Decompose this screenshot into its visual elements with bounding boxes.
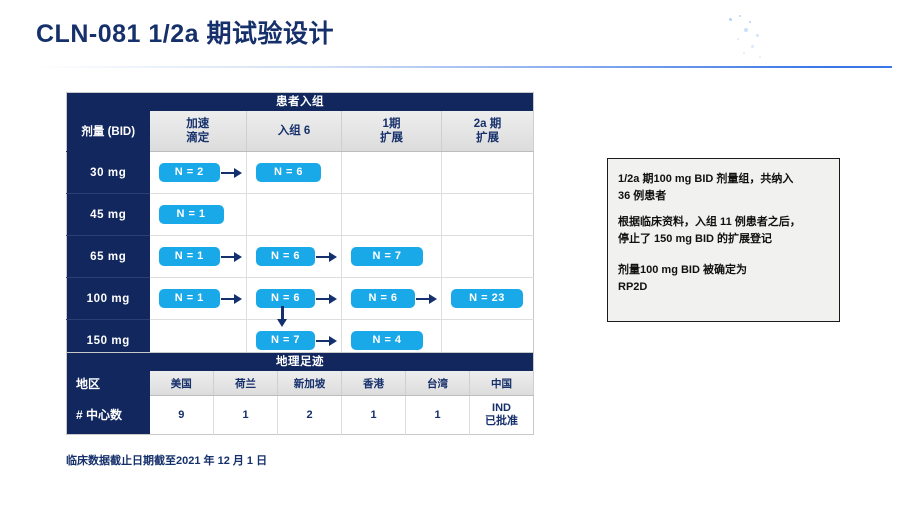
region-row-header: 地区 <box>67 371 150 396</box>
arrow-right-icon <box>316 335 340 347</box>
enrollment-pill: N = 7 <box>351 247 423 266</box>
site-count-taiwan: 1 <box>406 396 470 435</box>
cell-65mg-phase2a <box>442 236 534 278</box>
enrollment-pill: N = 1 <box>159 205 224 224</box>
region-taiwan: 台湾 <box>406 371 470 396</box>
page-title: CLN-081 1/2a 期试验设计 <box>36 14 334 50</box>
cell-65mg-phase1: N = 7 <box>342 236 442 278</box>
summary-callout-box: 1/2a 期100 mg BID 剂量组，共纳入 36 例患者 根据临床资料，入… <box>607 158 840 322</box>
cell-65mg-accelerated: N = 1 <box>150 236 247 278</box>
enrollment-pill: N = 6 <box>351 289 415 308</box>
dose-label-45mg: 45 mg <box>67 194 150 236</box>
callout-paragraph-1: 1/2a 期100 mg BID 剂量组，共纳入 36 例患者 <box>618 171 829 205</box>
callout-paragraph-3: 剂量100 mg BID 被确定为 RP2D <box>618 262 829 296</box>
geography-banner-row: 地理足迹 <box>67 353 534 372</box>
column-header-line1: 2a 期 <box>442 117 533 131</box>
table-row: 65 mg N = 1 N = 6 N = 7 <box>67 236 534 278</box>
column-header-phase1-expansion: 1期 扩展 <box>342 111 442 152</box>
enrollment-banner-row: 患者入组 <box>67 93 534 112</box>
table-row: 30 mg N = 2 N = 6 <box>67 152 534 194</box>
column-header-phase2a-expansion: 2a 期 扩展 <box>442 111 534 152</box>
region-china: 中国 <box>470 371 534 396</box>
site-count-singapore: 2 <box>278 396 342 435</box>
site-count-china-line1: IND <box>470 402 533 415</box>
cell-100mg-enroll6: N = 6 <box>247 278 342 320</box>
site-count-row-header: # 中心数 <box>67 396 150 435</box>
cell-45mg-accelerated: N = 1 <box>150 194 247 236</box>
enrollment-pill: N = 4 <box>351 331 423 350</box>
column-header-line1: 1期 <box>342 117 441 131</box>
enrollment-banner: 患者入组 <box>67 93 534 112</box>
geographic-footprint-table: 地理足迹 地区 美国 荷兰 新加坡 香港 台湾 中国 # 中心数 9 1 2 1… <box>66 352 534 435</box>
callout-paragraph-2: 根据临床资料，入组 11 例患者之后， 停止了 150 mg BID 的扩展登记 <box>618 214 829 248</box>
patient-enrollment-table: 患者入组 剂量 (BID) 加速 滴定 入组 6 1期 扩展 2a 期 扩展 <box>66 92 534 362</box>
column-header-line1: 加速 <box>150 117 247 131</box>
arrow-right-icon <box>221 251 245 263</box>
geography-header-row: 地区 美国 荷兰 新加坡 香港 台湾 中国 <box>67 371 534 396</box>
arrow-down-icon <box>276 306 288 330</box>
dose-column-header-text: 剂量 (BID) <box>81 126 135 138</box>
table-row: 100 mg N = 1 N = 6 N = 6 <box>67 278 534 320</box>
callout-line-4: 停止了 150 mg BID 的扩展登记 <box>618 233 772 245</box>
region-netherlands: 荷兰 <box>214 371 278 396</box>
cell-30mg-accelerated: N = 2 <box>150 152 247 194</box>
cell-45mg-phase1 <box>342 194 442 236</box>
cell-45mg-phase2a <box>442 194 534 236</box>
enrollment-pill: N = 6 <box>256 247 315 266</box>
callout-line-3: 根据临床资料，入组 11 例患者之后， <box>618 216 801 228</box>
enrollment-header-row: 剂量 (BID) 加速 滴定 入组 6 1期 扩展 2a 期 扩展 <box>67 111 534 152</box>
site-count-us: 9 <box>150 396 214 435</box>
dose-label-100mg: 100 mg <box>67 278 150 320</box>
enrollment-pill: N = 1 <box>159 247 221 266</box>
arrow-right-icon <box>416 293 440 305</box>
decorative-dots <box>725 12 795 62</box>
enrollment-pill: N = 2 <box>159 163 221 182</box>
cell-30mg-enroll6: N = 6 <box>247 152 342 194</box>
site-count-china: IND 已批准 <box>470 396 534 435</box>
cell-30mg-phase1 <box>342 152 442 194</box>
arrow-right-icon <box>221 293 245 305</box>
region-us: 美国 <box>150 371 214 396</box>
dose-label-30mg: 30 mg <box>67 152 150 194</box>
column-header-line2: 扩展 <box>442 131 533 145</box>
callout-line-6: RP2D <box>618 281 647 293</box>
cell-30mg-phase2a <box>442 152 534 194</box>
callout-line-5: 剂量100 mg BID 被确定为 <box>618 264 747 276</box>
data-cutoff-footnote: 临床数据截止日期截至2021 年 12 月 1 日 <box>66 452 267 468</box>
cell-65mg-enroll6: N = 6 <box>247 236 342 278</box>
column-header-accelerated-titration: 加速 滴定 <box>150 111 247 152</box>
enrollment-pill: N = 7 <box>256 331 315 350</box>
column-header-line1: 入组 6 <box>247 124 341 138</box>
callout-line-2: 36 例患者 <box>618 190 666 202</box>
cell-45mg-enroll6 <box>247 194 342 236</box>
geography-banner: 地理足迹 <box>67 353 534 372</box>
region-singapore: 新加坡 <box>278 371 342 396</box>
site-count-hongkong: 1 <box>342 396 406 435</box>
site-count-china-line2: 已批准 <box>470 415 533 428</box>
region-hongkong: 香港 <box>342 371 406 396</box>
column-header-line2: 扩展 <box>342 131 441 145</box>
callout-line-1: 1/2a 期100 mg BID 剂量组，共纳入 <box>618 173 793 185</box>
cell-100mg-phase1: N = 6 <box>342 278 442 320</box>
enrollment-pill: N = 6 <box>256 163 321 182</box>
arrow-right-icon <box>316 251 340 263</box>
table-row: # 中心数 9 1 2 1 1 IND 已批准 <box>67 396 534 435</box>
site-count-netherlands: 1 <box>214 396 278 435</box>
dose-label-65mg: 65 mg <box>67 236 150 278</box>
enrollment-pill: N = 1 <box>159 289 221 308</box>
dose-column-header: 剂量 (BID) <box>67 111 150 152</box>
cell-100mg-accelerated: N = 1 <box>150 278 247 320</box>
title-divider <box>30 66 892 68</box>
arrow-right-icon <box>221 167 245 179</box>
column-header-line2: 滴定 <box>150 131 247 145</box>
arrow-right-icon <box>316 293 340 305</box>
enrollment-pill: N = 23 <box>451 289 523 308</box>
cell-100mg-phase2a: N = 23 <box>442 278 534 320</box>
column-header-enroll-6: 入组 6 <box>247 111 342 152</box>
table-row: 45 mg N = 1 <box>67 194 534 236</box>
